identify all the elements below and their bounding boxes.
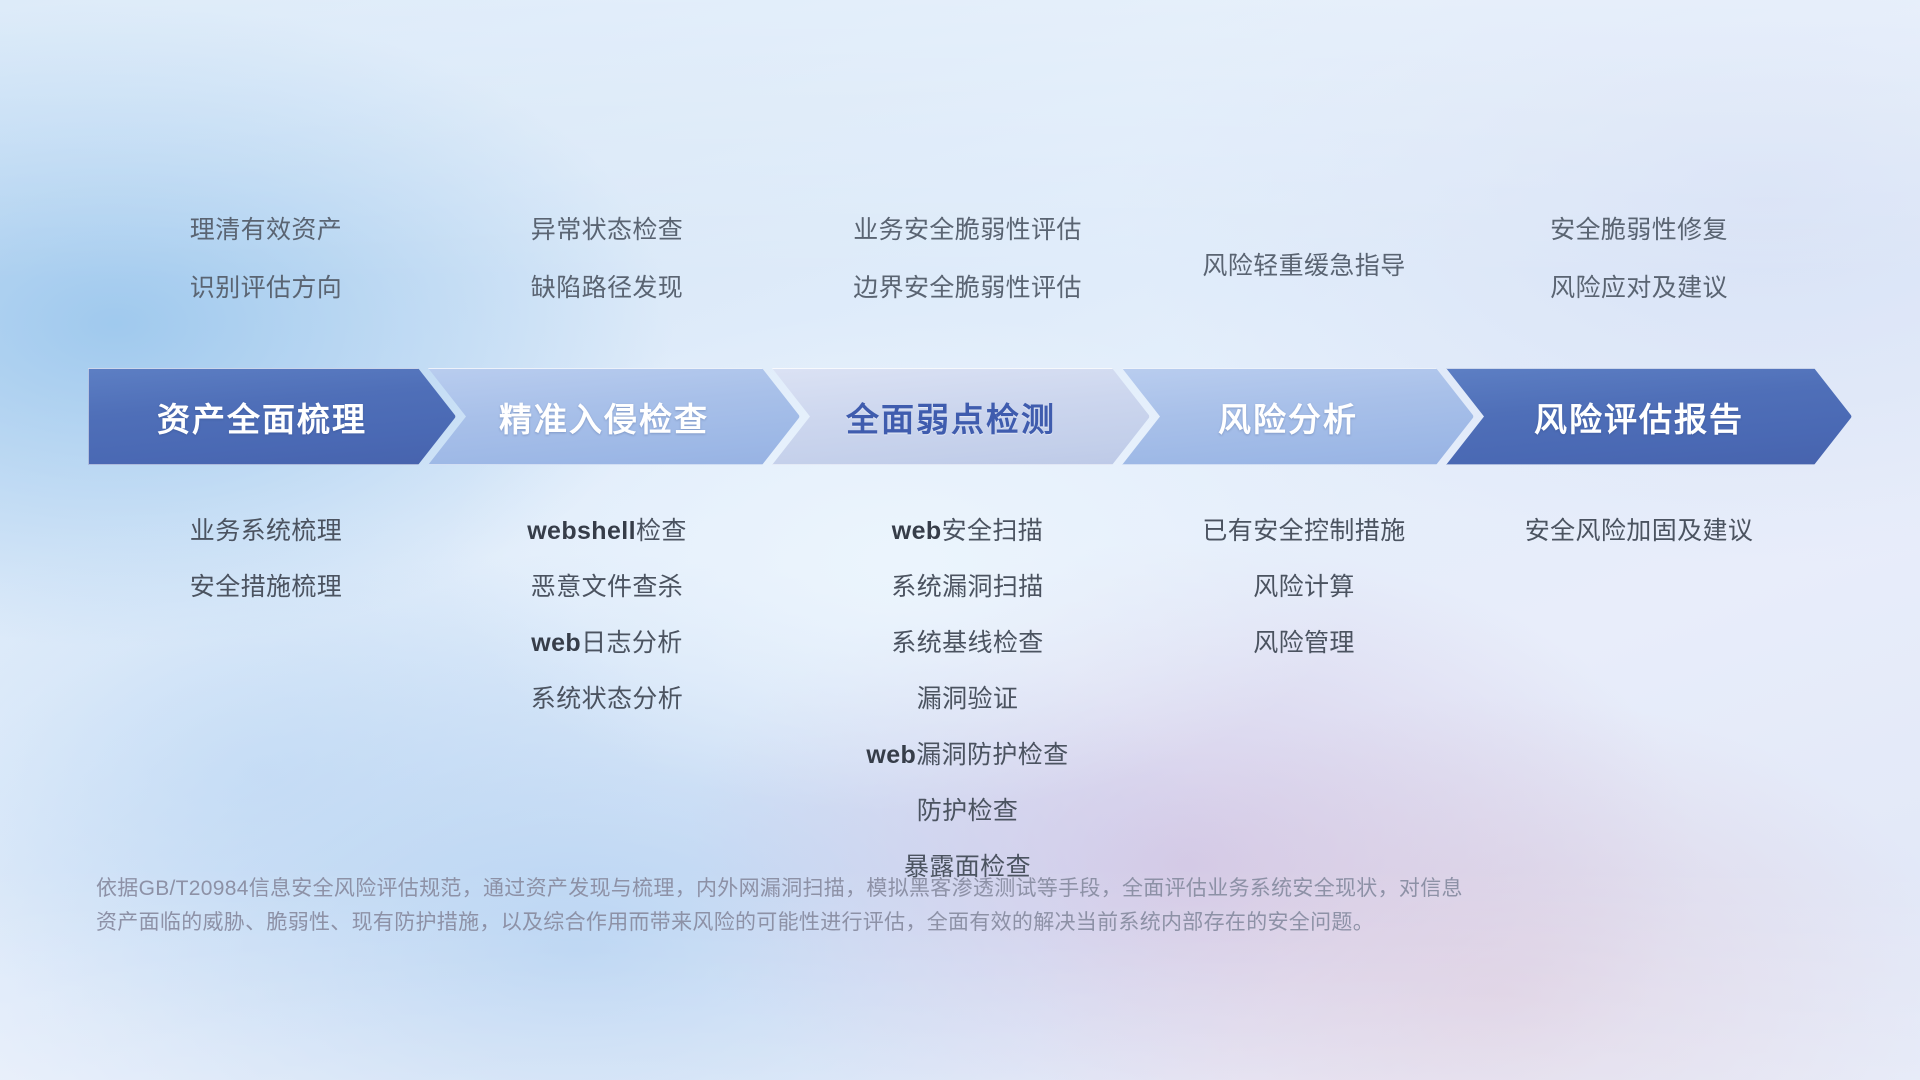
stage-chevron-intrusion-check[interactable]: 精准入侵检查 bbox=[428, 368, 800, 465]
list-item: web日志分析 bbox=[428, 627, 786, 659]
list-item: 安全措施梳理 bbox=[104, 571, 428, 603]
item-prefix: web bbox=[866, 741, 916, 769]
top-item: 业务安全脆弱性评估 bbox=[786, 215, 1149, 245]
item-text: 漏洞防护检查 bbox=[916, 741, 1068, 769]
top-group-asset-inventory: 理清有效资产 识别评估方向 bbox=[104, 215, 428, 303]
list-item: 系统基线检查 bbox=[786, 627, 1149, 659]
top-group-intrusion-check: 异常状态检查 缺陷路径发现 bbox=[428, 215, 786, 303]
list-item: 已有安全控制措施 bbox=[1149, 515, 1459, 547]
process-chevron-band: 资产全面梳理 精准入侵检查 全面弱点检测 风险分析 风险评估报告 bbox=[88, 368, 1852, 465]
footer-line: 依据GB/T20984信息安全风险评估规范，通过资产发现与梳理，内外网漏洞扫描，… bbox=[96, 872, 1736, 906]
top-item: 缺陷路径发现 bbox=[428, 273, 786, 303]
item-text: 检查 bbox=[636, 517, 687, 545]
top-group-assessment-report: 安全脆弱性修复 风险应对及建议 bbox=[1459, 215, 1819, 303]
item-prefix: webshell bbox=[527, 517, 636, 545]
bottom-group-weakness-detection: web安全扫描 系统漏洞扫描 系统基线检查 漏洞验证 web漏洞防护检查 防护检… bbox=[786, 515, 1149, 883]
slide-canvas: 理清有效资产 识别评估方向 异常状态检查 缺陷路径发现 业务安全脆弱性评估 边界… bbox=[0, 0, 1920, 1080]
list-item: 防护检查 bbox=[786, 795, 1149, 827]
stage-bottom-item-lists: 业务系统梳理 安全措施梳理 webshell检查 恶意文件查杀 web日志分析 … bbox=[0, 515, 1920, 883]
item-text: 系统漏洞扫描 bbox=[891, 573, 1043, 601]
top-item: 理清有效资产 bbox=[104, 215, 428, 245]
item-text: 恶意文件查杀 bbox=[531, 573, 683, 601]
top-group-risk-analysis: 风险轻重缓急指导 bbox=[1149, 215, 1459, 281]
item-text: 防护检查 bbox=[917, 797, 1019, 825]
item-text: 系统状态分析 bbox=[531, 685, 683, 713]
stage-chevron-asset-inventory[interactable]: 资产全面梳理 bbox=[88, 368, 456, 465]
stage-label: 精准入侵检查 bbox=[499, 393, 709, 441]
top-item: 边界安全脆弱性评估 bbox=[786, 273, 1149, 303]
item-text: 漏洞验证 bbox=[917, 685, 1019, 713]
item-text: 安全措施梳理 bbox=[190, 573, 342, 601]
stage-chevron-risk-analysis[interactable]: 风险分析 bbox=[1122, 368, 1474, 465]
list-item: web漏洞防护检查 bbox=[786, 739, 1149, 771]
top-item: 识别评估方向 bbox=[104, 273, 428, 303]
top-item: 异常状态检查 bbox=[428, 215, 786, 245]
item-text: 风险管理 bbox=[1253, 629, 1355, 657]
list-item: 恶意文件查杀 bbox=[428, 571, 786, 603]
list-item: 风险计算 bbox=[1149, 571, 1459, 603]
stage-top-descriptions: 理清有效资产 识别评估方向 异常状态检查 缺陷路径发现 业务安全脆弱性评估 边界… bbox=[0, 215, 1920, 303]
list-item: 风险管理 bbox=[1149, 627, 1459, 659]
item-text: 安全风险加固及建议 bbox=[1525, 517, 1754, 545]
item-text: 日志分析 bbox=[581, 629, 683, 657]
list-item: 漏洞验证 bbox=[786, 683, 1149, 715]
item-text: 风险计算 bbox=[1253, 573, 1355, 601]
list-item: 安全风险加固及建议 bbox=[1459, 515, 1819, 547]
item-prefix: web bbox=[531, 629, 581, 657]
list-item: webshell检查 bbox=[428, 515, 786, 547]
top-item: 风险轻重缓急指导 bbox=[1149, 251, 1459, 281]
item-text: 已有安全控制措施 bbox=[1202, 517, 1405, 545]
footer-description: 依据GB/T20984信息安全风险评估规范，通过资产发现与梳理，内外网漏洞扫描，… bbox=[96, 872, 1736, 940]
stage-chevron-weakness-detection[interactable]: 全面弱点检测 bbox=[772, 368, 1150, 465]
stage-label: 风险分析 bbox=[1218, 393, 1358, 441]
bottom-group-risk-analysis: 已有安全控制措施 风险计算 风险管理 bbox=[1149, 515, 1459, 659]
bottom-group-asset-inventory: 业务系统梳理 安全措施梳理 bbox=[104, 515, 428, 603]
top-item: 安全脆弱性修复 bbox=[1459, 215, 1819, 245]
item-text: 业务系统梳理 bbox=[190, 517, 342, 545]
list-item: 系统漏洞扫描 bbox=[786, 571, 1149, 603]
stage-label: 全面弱点检测 bbox=[846, 393, 1056, 441]
footer-line: 资产面临的威胁、脆弱性、现有防护措施，以及综合作用而带来风险的可能性进行评估，全… bbox=[96, 906, 1736, 940]
item-text: 系统基线检查 bbox=[891, 629, 1043, 657]
bottom-group-intrusion-check: webshell检查 恶意文件查杀 web日志分析 系统状态分析 bbox=[428, 515, 786, 715]
item-text: 安全扫描 bbox=[942, 517, 1044, 545]
list-item: 业务系统梳理 bbox=[104, 515, 428, 547]
list-item: 系统状态分析 bbox=[428, 683, 786, 715]
bottom-group-assessment-report: 安全风险加固及建议 bbox=[1459, 515, 1819, 547]
item-prefix: web bbox=[892, 517, 942, 545]
top-group-weakness-detection: 业务安全脆弱性评估 边界安全脆弱性评估 bbox=[786, 215, 1149, 303]
top-item: 风险应对及建议 bbox=[1459, 273, 1819, 303]
stage-chevron-assessment-report[interactable]: 风险评估报告 bbox=[1446, 368, 1852, 465]
stage-label: 资产全面梳理 bbox=[157, 393, 367, 441]
stage-label: 风险评估报告 bbox=[1534, 393, 1744, 441]
list-item: web安全扫描 bbox=[786, 515, 1149, 547]
